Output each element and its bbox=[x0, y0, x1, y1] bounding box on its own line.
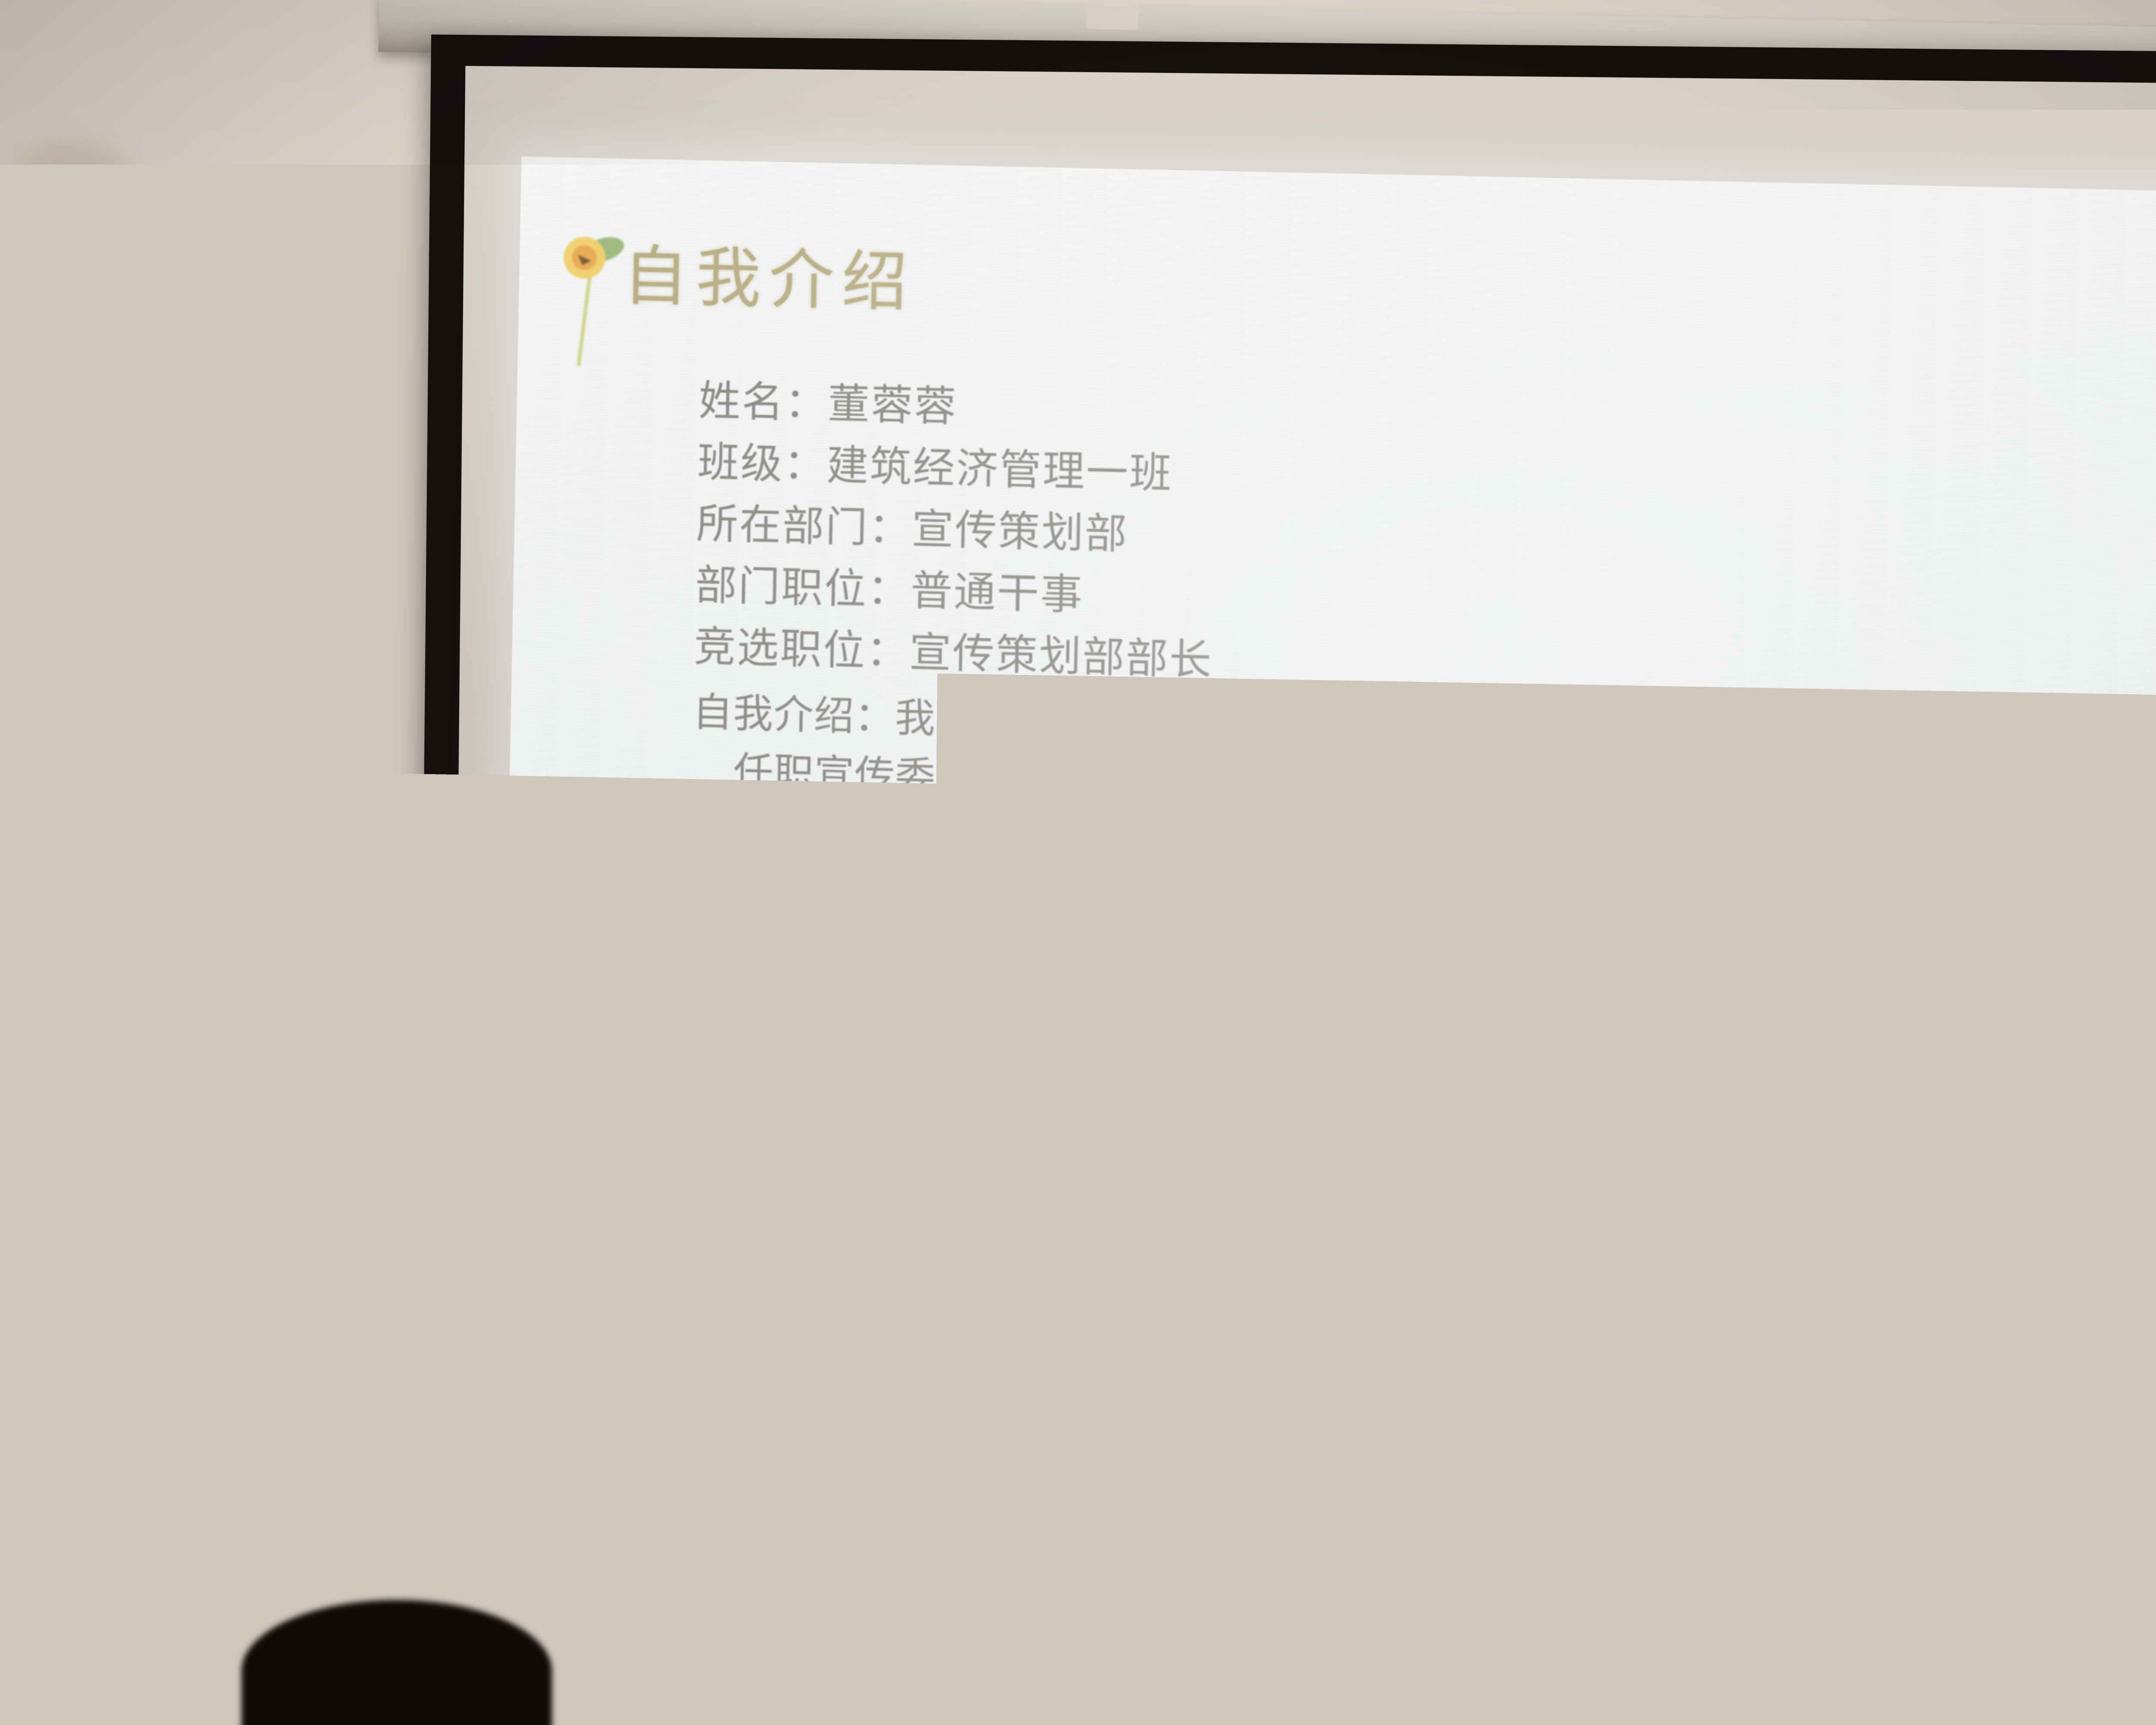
bracelet bbox=[1526, 1512, 1549, 1539]
page-title: 自我介绍 bbox=[622, 223, 916, 324]
wrist-watch bbox=[1384, 1515, 1411, 1543]
gold-lapel-badge-icon bbox=[1522, 1328, 1558, 1364]
slide-title-row: 自我介绍 bbox=[622, 223, 2156, 358]
eyebrow-right bbox=[1453, 1076, 1493, 1085]
slide-field-list: 姓名：董蓉蓉 班级：建筑经济管理一班 所在部门：宣传策划部 部门职位：普通干事 … bbox=[615, 368, 2156, 724]
eye-right bbox=[1458, 1095, 1485, 1106]
roller-tab bbox=[1086, 3, 1138, 30]
classroom-photo: 自我介绍 姓名：董蓉蓉 班级：建筑经济管理一班 所在部门：宣传策划部 部门职位：… bbox=[0, 0, 2156, 1725]
eye-left bbox=[1390, 1097, 1417, 1107]
wall-switch-plate[interactable] bbox=[0, 909, 84, 1010]
nose bbox=[1432, 1119, 1454, 1139]
eyebrow-left bbox=[1384, 1078, 1424, 1087]
slide-intro-paragraph: 自我介绍：我来自云南省曲靖市罗宗县，现在我是一名国土学子，我在班里 任职宣传委员… bbox=[611, 681, 2156, 968]
